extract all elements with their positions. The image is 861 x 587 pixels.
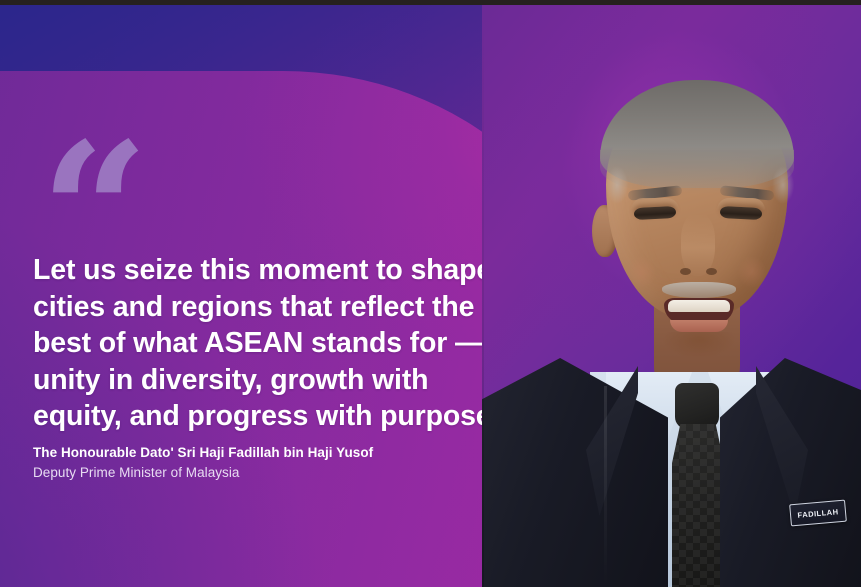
portrait-eye-right xyxy=(720,206,763,220)
portrait-photo: FADILLAH xyxy=(482,0,861,587)
portrait-left-edge xyxy=(482,0,484,587)
portrait-mustache xyxy=(662,282,736,298)
portrait-temple-right xyxy=(768,160,798,210)
portrait-cheek-left xyxy=(622,250,662,294)
portrait-chin-shadow xyxy=(650,332,748,372)
quote-text: Let us seize this moment to shape cities… xyxy=(33,252,503,435)
portrait-nostril-right xyxy=(706,268,717,275)
portrait-temple-left xyxy=(602,160,632,210)
portrait-nose xyxy=(681,214,715,276)
portrait-tie-pattern xyxy=(672,424,724,587)
portrait-cheek-right xyxy=(732,250,772,294)
attribution-name: The Honourable Dato' Sri Haji Fadillah b… xyxy=(33,443,503,463)
attribution: The Honourable Dato' Sri Haji Fadillah b… xyxy=(33,443,503,484)
attribution-role: Deputy Prime Minister of Malaysia xyxy=(33,463,503,483)
portrait-name-badge-text: FADILLAH xyxy=(797,507,839,520)
portrait-lower-lip xyxy=(670,320,728,332)
quote-slide: “ Let us seize this moment to shape citi… xyxy=(0,0,861,587)
portrait-tie-knot xyxy=(675,383,719,429)
portrait-nostril-left xyxy=(680,268,691,275)
portrait-shoulder-seam xyxy=(604,386,607,586)
portrait-teeth xyxy=(668,300,730,312)
quote-block: Let us seize this moment to shape cities… xyxy=(33,252,503,435)
top-dark-bar xyxy=(0,0,861,5)
portrait-eye-left xyxy=(634,206,677,220)
